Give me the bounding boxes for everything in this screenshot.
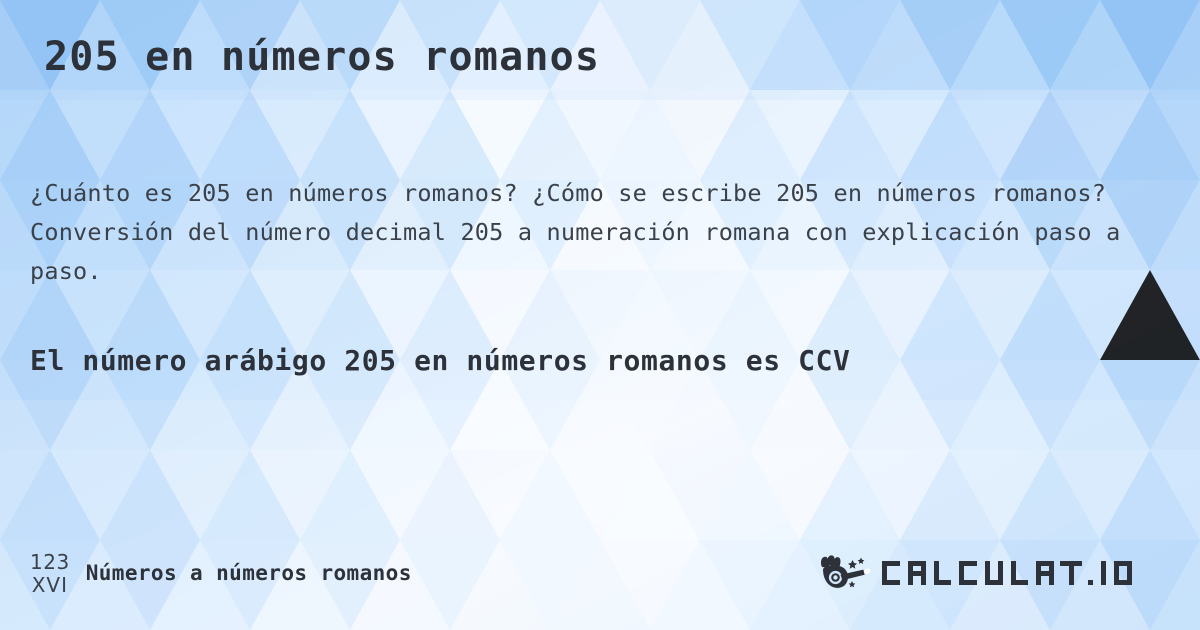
footer-section-brand[interactable]: 123 XVI Números a números romanos bbox=[30, 552, 412, 595]
fraction-numerator: 123 bbox=[30, 552, 70, 573]
calculatio-wordmark bbox=[880, 553, 1170, 593]
magic-wand-hand-icon bbox=[818, 553, 874, 593]
og-image-canvas: 205 en números romanos ¿Cuánto es 205 en… bbox=[0, 0, 1200, 630]
page-title: 205 en números romanos bbox=[44, 34, 600, 80]
lead-paragraph: ¿Cuánto es 205 en números romanos? ¿Cómo… bbox=[30, 174, 1170, 291]
calculatio-logo[interactable] bbox=[818, 553, 1170, 593]
fraction-denominator: XVI bbox=[32, 573, 68, 595]
footer-section-label: Números a números romanos bbox=[86, 561, 412, 585]
content-area: 205 en números romanos ¿Cuánto es 205 en… bbox=[0, 0, 1200, 630]
answer-statement: El número arábigo 205 en números romanos… bbox=[30, 344, 1180, 377]
arabic-over-roman-fraction-icon: 123 XVI bbox=[30, 552, 70, 595]
footer: 123 XVI Números a números romanos bbox=[0, 546, 1200, 600]
